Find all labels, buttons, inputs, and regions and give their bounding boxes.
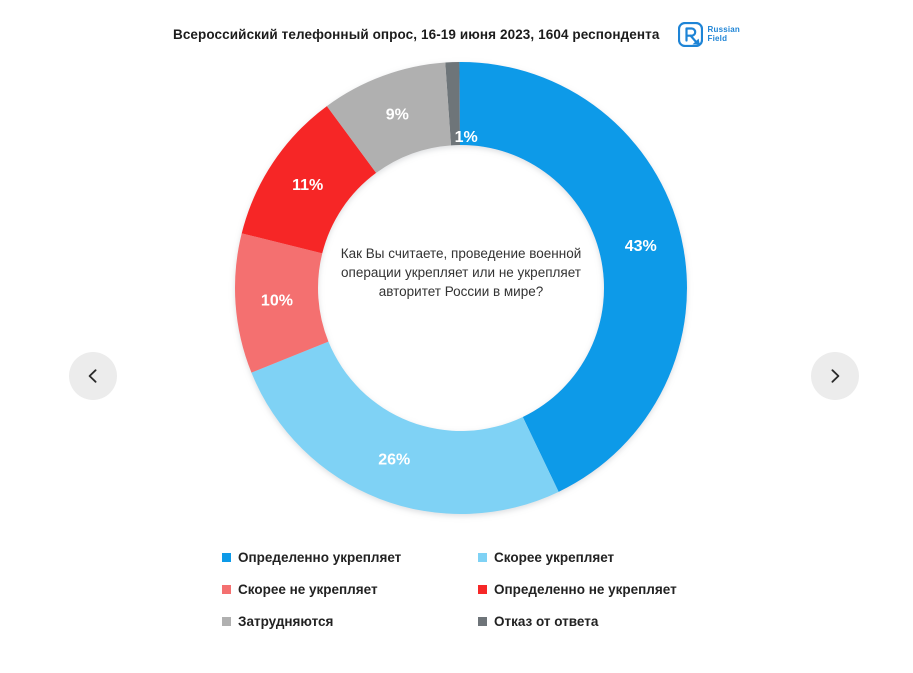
legend-item[interactable]: Определенно укрепляет	[222, 550, 478, 565]
brand-logo-text: Russian Field	[708, 26, 741, 43]
legend-item[interactable]: Определенно не укрепляет	[478, 582, 702, 597]
donut-slice-label: 43%	[625, 238, 657, 255]
donut-slice[interactable]	[251, 342, 558, 514]
legend-item[interactable]: Затрудняются	[222, 614, 478, 629]
donut-slice-label: 11%	[292, 177, 323, 194]
page-title: Всероссийский телефонный опрос, 16-19 ию…	[173, 27, 660, 42]
donut-slice-label: 26%	[378, 452, 410, 469]
center-question-text: Как Вы считаете, проведение военной опер…	[317, 244, 605, 301]
legend-swatch-icon	[478, 585, 487, 594]
prev-slide-button[interactable]	[69, 352, 117, 400]
brand-logo: Russian Field	[678, 22, 741, 47]
legend-item-label: Затрудняются	[238, 614, 333, 629]
legend-item-label: Определенно укрепляет	[238, 550, 401, 565]
legend-item-label: Отказ от ответа	[494, 614, 598, 629]
legend-item[interactable]: Отказ от ответа	[478, 614, 702, 629]
legend-swatch-icon	[478, 553, 487, 562]
next-slide-button[interactable]	[811, 352, 859, 400]
donut-slice-label: 1%	[455, 129, 478, 146]
legend-swatch-icon	[222, 553, 231, 562]
donut-slice-label: 10%	[261, 292, 293, 309]
chevron-left-icon	[83, 366, 103, 386]
donut-slice-label: 9%	[386, 106, 409, 123]
legend-swatch-icon	[222, 617, 231, 626]
legend-item-label: Определенно не укрепляет	[494, 582, 677, 597]
donut-chart: 1%43%26%10%11%9% Как Вы считаете, провед…	[0, 48, 913, 538]
chart-legend: Определенно укрепляетСкорее укрепляетСко…	[222, 541, 702, 637]
brand-logo-line2: Field	[708, 35, 741, 44]
legend-item[interactable]: Скорее не укрепляет	[222, 582, 478, 597]
legend-item-label: Скорее укрепляет	[494, 550, 614, 565]
russian-field-logo-icon	[678, 22, 703, 47]
header-inner: Всероссийский телефонный опрос, 16-19 ию…	[173, 22, 740, 47]
legend-item-label: Скорее не укрепляет	[238, 582, 378, 597]
legend-swatch-icon	[222, 585, 231, 594]
chevron-right-icon	[825, 366, 845, 386]
legend-swatch-icon	[478, 617, 487, 626]
legend-item[interactable]: Скорее укрепляет	[478, 550, 702, 565]
